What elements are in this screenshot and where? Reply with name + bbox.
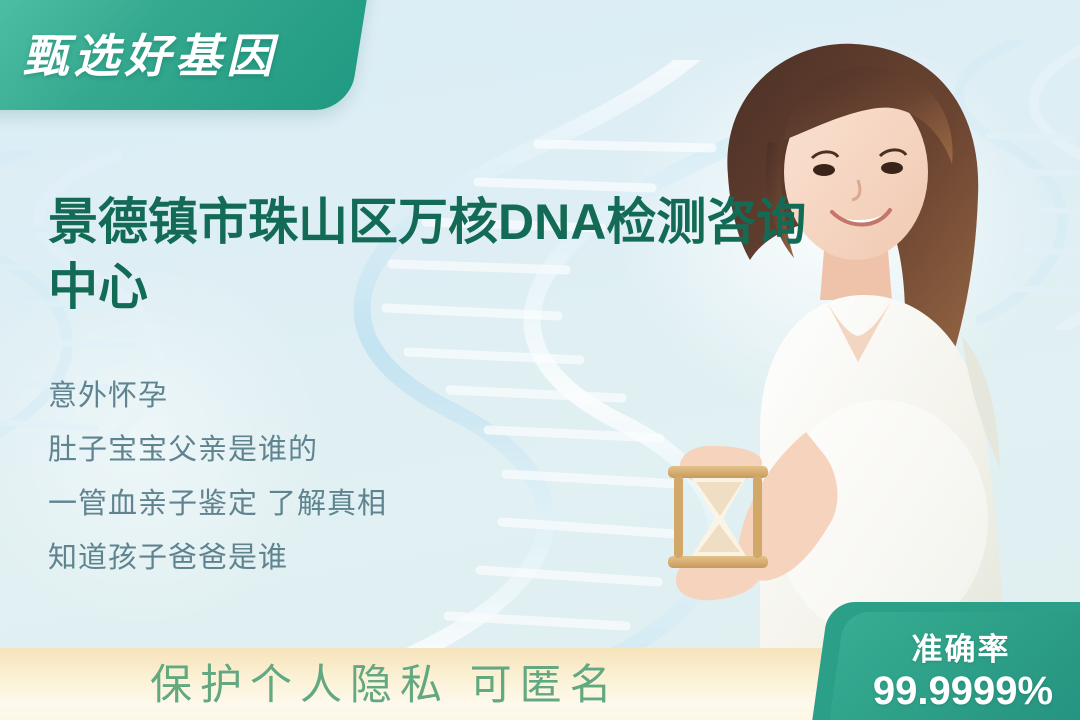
promo-copy-line: 知道孩子爸爸是谁 xyxy=(48,532,568,586)
promo-banner: 甄选好基因 景德镇市珠山区万核DNA检测咨询中心 意外怀孕 肚子宝宝父亲是谁的 … xyxy=(0,0,1080,720)
accuracy-badge: 准确率 99.9999% xyxy=(810,598,1080,720)
model-photo xyxy=(610,0,1080,680)
promo-copy-line: 一管血亲子鉴定 了解真相 xyxy=(48,478,568,532)
promo-copy-list: 意外怀孕 肚子宝宝父亲是谁的 一管血亲子鉴定 了解真相 知道孩子爸爸是谁 xyxy=(48,370,568,586)
accuracy-badge-label: 准确率 xyxy=(912,624,1011,669)
promo-copy-line: 肚子宝宝父亲是谁的 xyxy=(48,424,568,478)
page-title: 景德镇市珠山区万核DNA检测咨询中心 xyxy=(48,190,838,320)
accuracy-badge-panel: 准确率 99.9999% xyxy=(827,612,1080,720)
accuracy-badge-value: 99.9999% xyxy=(873,669,1053,714)
privacy-note: 保护个人隐私 可匿名 xyxy=(150,651,620,712)
brand-logo-text: 甄选好基因 xyxy=(22,20,277,86)
brand-logo-tab: 甄选好基因 xyxy=(0,0,371,110)
promo-copy-line: 意外怀孕 xyxy=(48,370,568,424)
